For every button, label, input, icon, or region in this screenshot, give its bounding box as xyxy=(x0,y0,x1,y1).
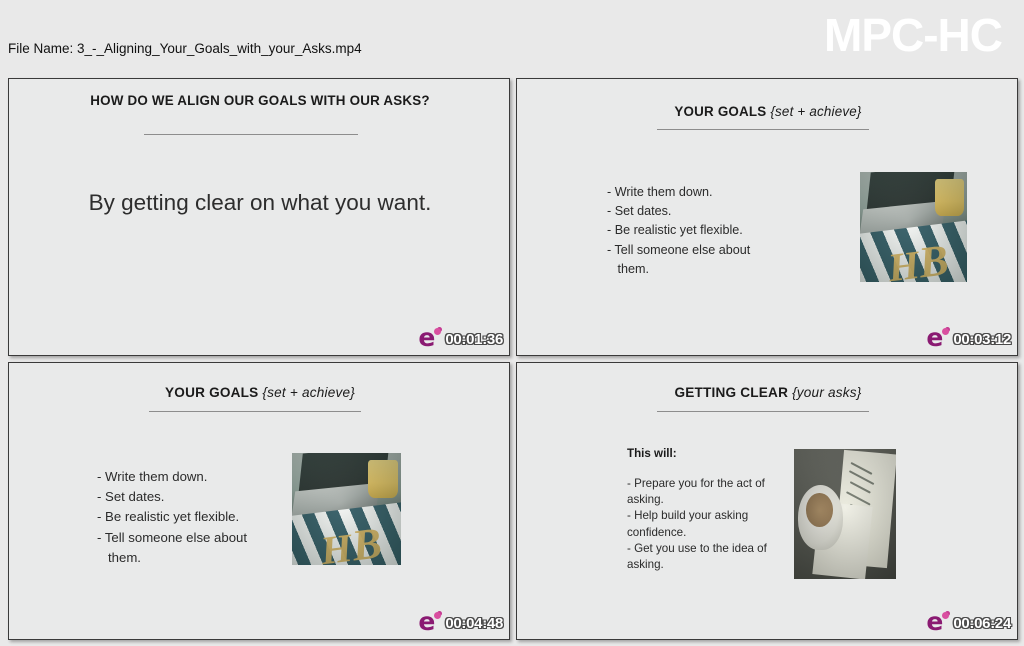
slide-1-badge: e 00:01:36 xyxy=(418,327,503,351)
slide-4-canvas: GETTING CLEAR {your asks} This will: - P… xyxy=(517,363,1017,639)
slide-1-title-bold: HOW DO WE ALIGN OUR GOALS WITH OUR ASKS? xyxy=(90,93,430,108)
slide-2-title-rule xyxy=(657,129,869,130)
list-item: them. xyxy=(97,548,247,568)
list-item: - Set dates. xyxy=(97,487,247,507)
thumbnail-grid: HOW DO WE ALIGN OUR GOALS WITH OUR ASKS?… xyxy=(8,78,1016,640)
thumbnail-slide-3[interactable]: YOUR GOALS {set + achieve} - Write them … xyxy=(8,362,510,640)
laptop-notebook-mug-photo: H B xyxy=(860,172,967,282)
laptop-notebook-mug-photo: H B xyxy=(292,453,401,565)
list-item: - Write them down. xyxy=(97,467,247,487)
slide-3-title-brace: {set + achieve} xyxy=(262,385,355,400)
slide-1-timecode: 00:01:36 xyxy=(445,331,503,348)
photo-vignette xyxy=(292,453,401,565)
list-item: - Tell someone else about xyxy=(97,528,247,548)
slide-3-title-bold: YOUR GOALS xyxy=(165,385,262,400)
slide-4-timecode: 00:06:24 xyxy=(953,615,1011,632)
file-name-line: File Name: 3_-_Aligning_Your_Goals_with_… xyxy=(8,41,362,58)
slide-4-title-rule xyxy=(657,411,869,412)
slide-3-title-rule xyxy=(149,411,361,412)
slide-3-canvas: YOUR GOALS {set + achieve} - Write them … xyxy=(9,363,509,639)
slide-2-title-brace: {set + achieve} xyxy=(770,104,861,119)
list-item: - Be realistic yet flexible. xyxy=(97,507,247,527)
notebook-coffee-photo xyxy=(794,449,896,579)
list-item: - Be realistic yet flexible. xyxy=(607,221,750,240)
e-logo-spark-icon xyxy=(942,328,949,335)
e-logo-icon: e xyxy=(926,612,948,634)
e-logo-spark-icon xyxy=(434,612,441,619)
slide-1-headline: By getting clear on what you want. xyxy=(39,187,481,220)
e-logo-glyph: e xyxy=(418,325,435,350)
slide-3-title: YOUR GOALS {set + achieve} xyxy=(69,385,451,402)
slide-1-title-rule xyxy=(144,134,358,135)
slide-3-timecode: 00:04:48 xyxy=(445,615,503,632)
e-logo-glyph: e xyxy=(926,609,943,634)
list-item: - Set dates. xyxy=(607,202,750,221)
slide-4-title: GETTING CLEAR {your asks} xyxy=(577,385,959,402)
slide-2-badge: e 00:03:12 xyxy=(926,327,1011,351)
e-logo-icon: e xyxy=(418,612,440,634)
e-logo-icon: e xyxy=(926,328,948,350)
slide-4-title-bold: GETTING CLEAR xyxy=(674,385,792,400)
list-item: - Tell someone else about xyxy=(607,241,750,260)
mpc-hc-watermark: MPC-HC xyxy=(824,8,1002,62)
thumbnail-slide-4[interactable]: GETTING CLEAR {your asks} This will: - P… xyxy=(516,362,1018,640)
slide-3-bullet-list: - Write them down. - Set dates. - Be rea… xyxy=(97,467,247,568)
slide-4-title-brace: {your asks} xyxy=(792,385,861,400)
player-thumbnail-sheet: File Name: 3_-_Aligning_Your_Goals_with_… xyxy=(0,0,1024,646)
slide-4-lead-text: This will: xyxy=(627,447,677,460)
slide-2-timecode: 00:03:12 xyxy=(953,331,1011,348)
slide-1-canvas: HOW DO WE ALIGN OUR GOALS WITH OUR ASKS?… xyxy=(9,79,509,355)
slide-2-bullet-list: - Write them down. - Set dates. - Be rea… xyxy=(607,183,750,279)
e-logo-glyph: e xyxy=(418,609,435,634)
list-item: them. xyxy=(607,260,750,279)
e-logo-icon: e xyxy=(418,328,440,350)
thumbnail-slide-2[interactable]: YOUR GOALS {set + achieve} - Write them … xyxy=(516,78,1018,356)
slide-3-badge: e 00:04:48 xyxy=(418,611,503,635)
slide-2-canvas: YOUR GOALS {set + achieve} - Write them … xyxy=(517,79,1017,355)
e-logo-spark-icon xyxy=(434,328,441,335)
slide-1-title: HOW DO WE ALIGN OUR GOALS WITH OUR ASKS? xyxy=(79,93,441,109)
thumbnail-slide-1[interactable]: HOW DO WE ALIGN OUR GOALS WITH OUR ASKS?… xyxy=(8,78,510,356)
photo-vignette xyxy=(794,449,896,579)
slide-4-badge: e 00:06:24 xyxy=(926,611,1011,635)
e-logo-spark-icon xyxy=(942,612,949,619)
e-logo-glyph: e xyxy=(926,325,943,350)
photo-vignette xyxy=(860,172,967,282)
slide-2-title: YOUR GOALS {set + achieve} xyxy=(577,104,959,120)
slide-4-body-text: - Prepare you for the act of asking. - H… xyxy=(627,476,779,573)
file-info-header: File Name: 3_-_Aligning_Your_Goals_with_… xyxy=(0,0,1024,76)
slide-2-title-bold: YOUR GOALS xyxy=(674,104,770,119)
list-item: - Write them down. xyxy=(607,183,750,202)
